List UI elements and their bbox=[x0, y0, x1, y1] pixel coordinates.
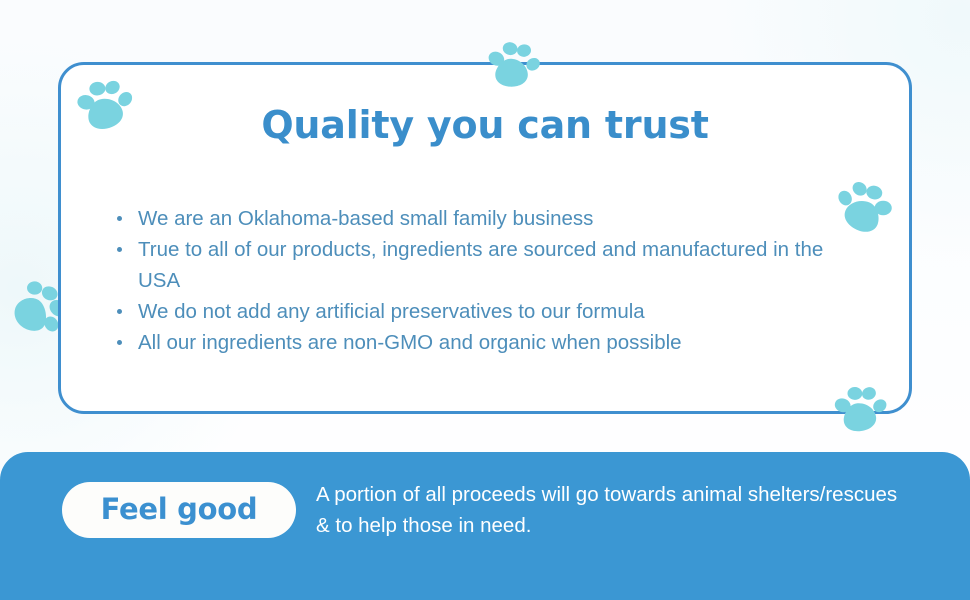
feel-good-badge: Feel good bbox=[62, 482, 296, 538]
list-item-label: All our ingredients are non-GMO and orga… bbox=[138, 331, 682, 354]
bullet-dot-icon bbox=[117, 247, 122, 252]
list-item-label: We are an Oklahoma-based small family bu… bbox=[138, 207, 593, 230]
list-item-label: We do not add any artificial preservativ… bbox=[138, 300, 645, 323]
quality-bullet-list: We are an Oklahoma-based small family bu… bbox=[107, 203, 869, 358]
bullet-dot-icon bbox=[117, 340, 122, 345]
page-title: Quality you can trust bbox=[61, 103, 909, 147]
bullet-dot-icon bbox=[117, 216, 122, 221]
quality-card: Quality you can trust We are an Oklahoma… bbox=[58, 62, 912, 414]
donation-banner: Feel good A portion of all proceeds will… bbox=[0, 452, 970, 600]
list-item: True to all of our products, ingredients… bbox=[107, 234, 869, 296]
list-item: We do not add any artificial preservativ… bbox=[107, 296, 869, 327]
feel-good-badge-label: Feel good bbox=[101, 492, 258, 526]
donation-banner-copy: A portion of all proceeds will go toward… bbox=[316, 479, 916, 541]
bullet-dot-icon bbox=[117, 309, 122, 314]
list-item: All our ingredients are non-GMO and orga… bbox=[107, 327, 869, 358]
list-item-label: True to all of our products, ingredients… bbox=[138, 238, 823, 292]
list-item: We are an Oklahoma-based small family bu… bbox=[107, 203, 869, 234]
